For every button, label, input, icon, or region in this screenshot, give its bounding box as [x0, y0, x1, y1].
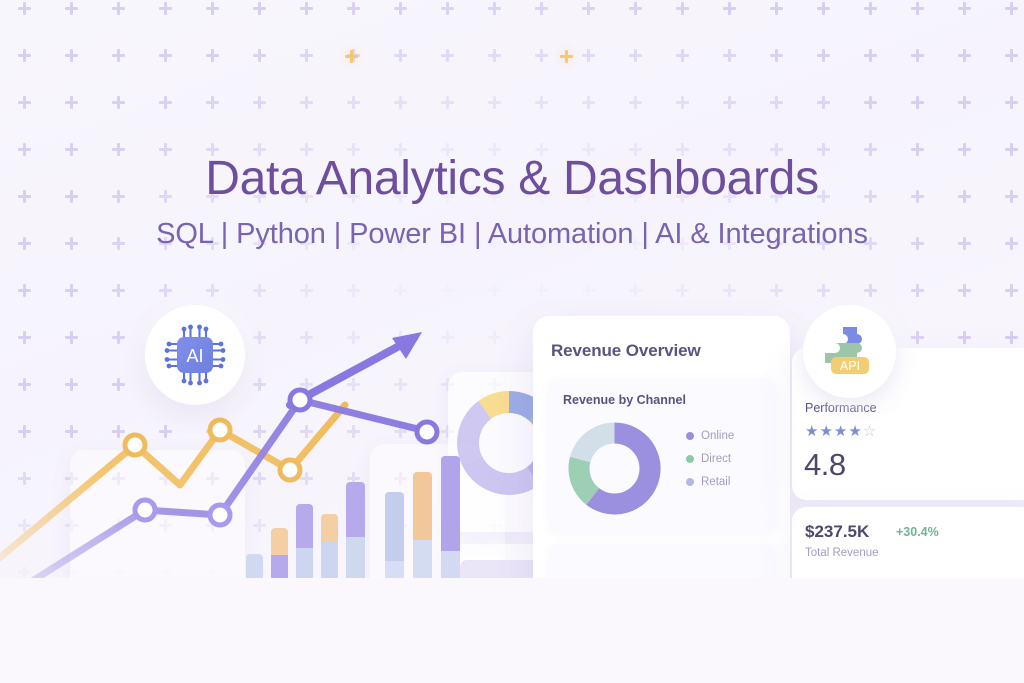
plus-mark: [723, 2, 736, 15]
plus-mark: [488, 284, 501, 297]
plus-mark: [1005, 2, 1018, 15]
plus-mark: [817, 2, 830, 15]
cpu-chip-icon: AI: [164, 324, 226, 386]
total-revenue-panel[interactable]: $237.5K +30.4% Total Revenue: [792, 507, 1024, 578]
plus-mark: [864, 96, 877, 109]
plus-mark: [676, 96, 689, 109]
plus-mark: [676, 2, 689, 15]
plus-mark: [770, 49, 783, 62]
page-title: Data Analytics & Dashboards: [0, 152, 1024, 206]
legend-label-online: Online: [701, 430, 734, 442]
legend-label-retail: Retail: [701, 476, 730, 488]
legend-label-direct: Direct: [701, 453, 731, 465]
plus-mark: [535, 284, 548, 297]
bar-s3: [441, 456, 460, 578]
plus-mark: [253, 49, 266, 62]
plus-mark: [535, 96, 548, 109]
plus-mark: [112, 96, 125, 109]
plus-mark: [770, 284, 783, 297]
plus-mark: [864, 2, 877, 15]
plus-mark: [347, 2, 360, 15]
plus-mark: [911, 96, 924, 109]
plus-mark: [300, 96, 313, 109]
plus-mark: [488, 2, 501, 15]
plus-mark: [629, 96, 642, 109]
plus-mark: [817, 284, 830, 297]
plus-mark: [394, 49, 407, 62]
plus-mark: [300, 284, 313, 297]
plus-mark: [582, 2, 595, 15]
plus-mark: [958, 2, 971, 15]
api-badge[interactable]: API: [803, 305, 896, 398]
plus-mark: [723, 96, 736, 109]
total-revenue-delta: +30.4%: [896, 525, 939, 539]
plus-mark: [441, 284, 454, 297]
page-subtitle: SQL | Python | Power BI | Automation | A…: [0, 218, 1024, 251]
star-filled-group: ★★★★: [805, 423, 863, 440]
performance-score: 4.8: [804, 447, 846, 483]
plus-mark: [629, 49, 642, 62]
bar-3: [296, 504, 313, 578]
plus-mark: [958, 96, 971, 109]
plus-mark: [206, 96, 219, 109]
revenue-donut-chart[interactable]: [562, 416, 667, 521]
plus-mark: [18, 284, 31, 297]
plus-mark: [582, 96, 595, 109]
plus-mark: [441, 96, 454, 109]
api-badge-label: API: [839, 359, 859, 373]
plus-mark: [1005, 284, 1018, 297]
revenue-card-title: Revenue Overview: [551, 341, 701, 361]
legend-item-retail: Retail: [686, 476, 734, 488]
plus-mark: [159, 284, 172, 297]
plus-mark: [159, 96, 172, 109]
legend-dot-direct: [686, 455, 694, 463]
hero-text-block: Data Analytics & Dashboards SQL | Python…: [0, 152, 1024, 251]
dashboard-illustration: Revenue Overview Revenue by Channel Onli…: [0, 300, 1024, 578]
poster-canvas: Revenue Overview Revenue by Channel Onli…: [0, 0, 1024, 683]
plus-mark: [347, 96, 360, 109]
plus-mark: [253, 96, 266, 109]
plus-mark: [535, 2, 548, 15]
plus-mark: [112, 49, 125, 62]
plus-mark: [18, 49, 31, 62]
legend-dot-online: [686, 432, 694, 440]
legend-item-online: Online: [686, 430, 734, 442]
plus-mark-accent: [345, 50, 358, 63]
plus-mark: [488, 49, 501, 62]
plus-mark: [911, 49, 924, 62]
bottom-solid-area: [0, 578, 1024, 683]
plus-mark: [441, 2, 454, 15]
bar-2: [271, 528, 288, 578]
legend-item-direct: Direct: [686, 453, 734, 465]
plus-mark: [300, 49, 313, 62]
plus-mark: [723, 284, 736, 297]
rating-stars[interactable]: ★★★★☆: [805, 424, 877, 439]
plus-mark: [253, 2, 266, 15]
bar-5: [346, 482, 365, 578]
ai-badge[interactable]: AI: [145, 305, 245, 405]
plus-mark: [958, 284, 971, 297]
plus-mark: [206, 2, 219, 15]
plus-mark: [770, 96, 783, 109]
plus-mark: [676, 49, 689, 62]
plus-mark: [159, 2, 172, 15]
plus-mark: [864, 49, 877, 62]
plus-mark: [206, 49, 219, 62]
plus-mark: [817, 49, 830, 62]
plus-mark: [911, 2, 924, 15]
plus-mark: [629, 284, 642, 297]
plus-mark: [723, 49, 736, 62]
plus-mark: [535, 49, 548, 62]
plus-mark: [65, 284, 78, 297]
plus-mark: [1005, 96, 1018, 109]
plus-mark: [112, 284, 125, 297]
plus-mark: [18, 2, 31, 15]
plus-mark: [911, 284, 924, 297]
bar-1: [246, 554, 263, 578]
plus-mark: [394, 96, 407, 109]
plus-mark: [65, 2, 78, 15]
plus-mark: [582, 49, 595, 62]
revenue-chart-title: Revenue by Channel: [563, 393, 686, 407]
plus-mark: [582, 284, 595, 297]
plus-mark: [347, 284, 360, 297]
bar-s2: [413, 472, 432, 578]
plus-mark: [300, 2, 313, 15]
revenue-legend: Online Direct Retail: [686, 430, 734, 499]
plus-mark: [65, 96, 78, 109]
ai-badge-label: AI: [186, 346, 203, 366]
plus-mark: [629, 2, 642, 15]
legend-dot-retail: [686, 478, 694, 486]
revenue-overview-card[interactable]: Revenue Overview Revenue by Channel Onli…: [533, 316, 790, 578]
plus-mark: [394, 2, 407, 15]
plus-mark: [18, 96, 31, 109]
bar-4: [321, 514, 338, 578]
puzzle-piece-icon: API: [817, 321, 883, 383]
total-revenue-value: $237.5K: [805, 522, 869, 542]
plus-mark: [441, 49, 454, 62]
plus-mark: [1005, 49, 1018, 62]
plus-mark: [253, 284, 266, 297]
plus-mark: [817, 96, 830, 109]
plus-mark: [112, 2, 125, 15]
plus-mark: [770, 2, 783, 15]
plus-mark: [488, 96, 501, 109]
total-revenue-label: Total Revenue: [805, 547, 879, 559]
revenue-card-footer-row: [548, 544, 775, 578]
plus-mark-accent: [560, 50, 573, 63]
plus-mark: [65, 49, 78, 62]
plus-mark: [864, 284, 877, 297]
bar-s1: [385, 492, 404, 578]
plus-mark: [159, 49, 172, 62]
plus-mark: [676, 284, 689, 297]
plus-mark: [206, 284, 219, 297]
star-empty: ☆: [863, 423, 877, 440]
revenue-by-channel-panel: Revenue by Channel Online: [548, 378, 775, 533]
plus-mark: [394, 284, 407, 297]
plus-mark: [958, 49, 971, 62]
